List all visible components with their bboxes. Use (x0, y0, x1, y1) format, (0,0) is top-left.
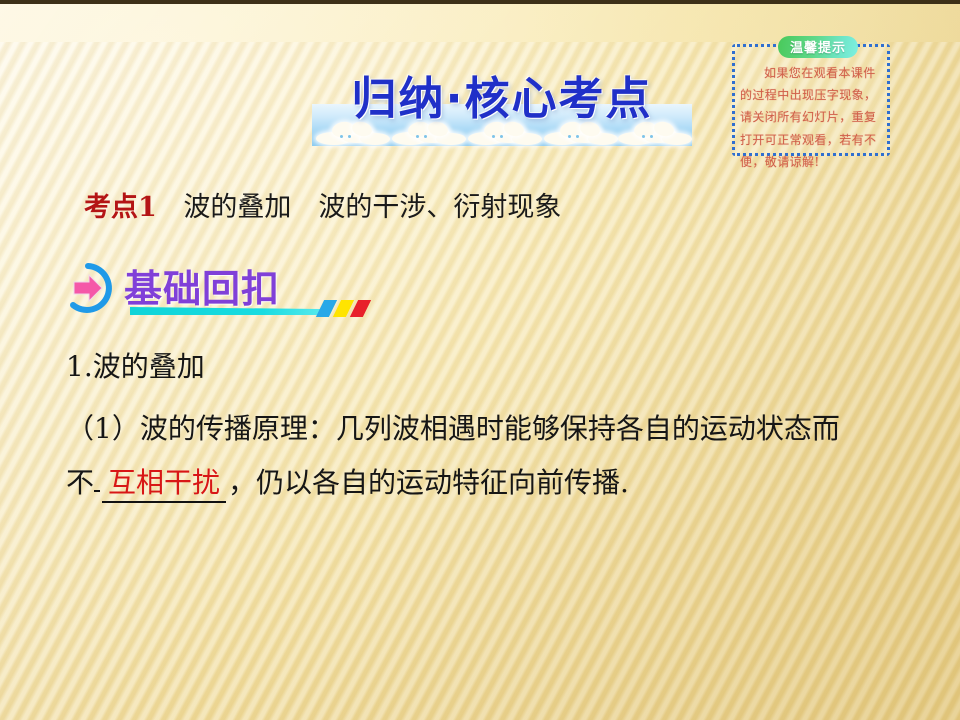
page-title: 归纳·核心考点 (312, 62, 692, 127)
section-underline-decoration (130, 307, 320, 316)
slide-canvas: 归纳·核心考点 温馨提示 如果您在观看本课件的过程中出现压字现象，请关闭所有幻灯… (0, 0, 960, 720)
paragraph-line-2: 不互相干扰，仍以各自的运动特征向前传播. (66, 456, 928, 510)
tip-box-body-text: 如果您在观看本课件的过程中出现压字现象，请关闭所有幻灯片，重复打开可正常观看，若… (740, 62, 886, 173)
paragraph-line-1: （1）波的传播原理：几列波相遇时能够保持各自的运动状态而 (66, 402, 928, 456)
body-content: 1.波的叠加 （1）波的传播原理：几列波相遇时能够保持各自的运动状态而 不互相干… (66, 340, 928, 510)
kaodian-heading: 考点1 波的叠加 波的干涉、衍射现象 (84, 185, 561, 224)
kaodian-label: 考点1 (84, 192, 157, 223)
fill-in-blank-answer: 互相干扰 (102, 466, 226, 503)
section-title: 基础回扣 (124, 258, 280, 313)
kaodian-topic: 波的叠加 波的干涉、衍射现象 (183, 192, 561, 223)
section-slash-decoration (320, 300, 390, 318)
tip-box-badge: 温馨提示 (778, 36, 858, 58)
section-header: 基础回扣 (62, 258, 392, 322)
paragraph-line-2-after: ，仍以各自的运动特征向前传播. (228, 466, 629, 499)
circle-arrow-right-icon (62, 262, 114, 314)
top-edge-strip (0, 0, 960, 4)
paragraph-line-2-before: 不 (66, 466, 94, 499)
content-heading: 1.波的叠加 (66, 340, 928, 394)
